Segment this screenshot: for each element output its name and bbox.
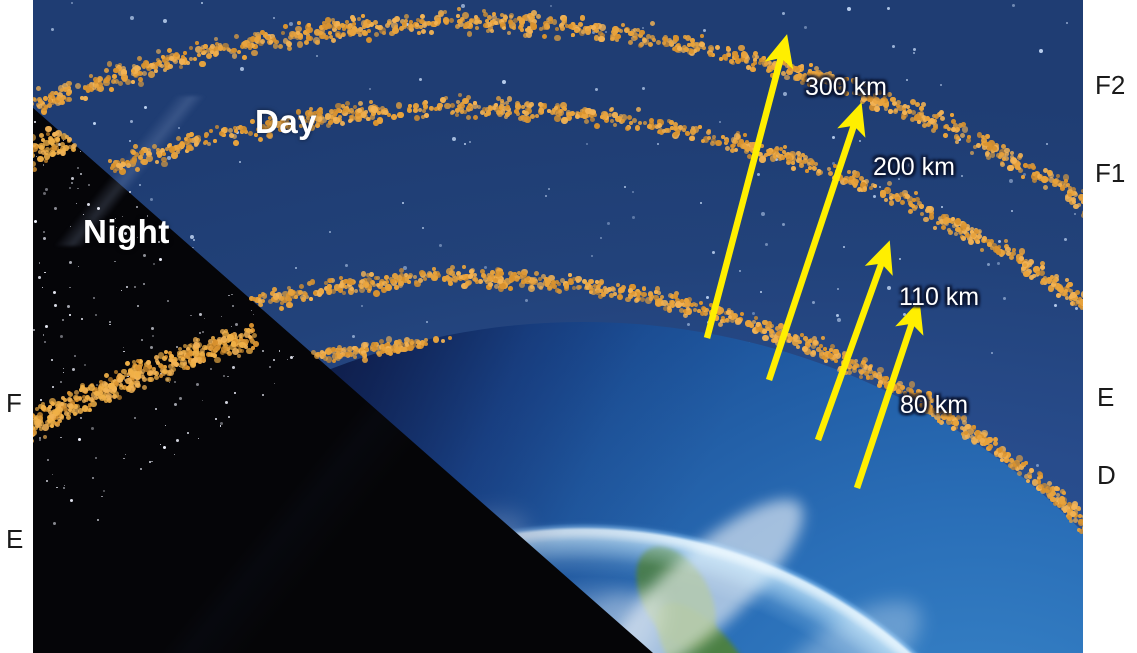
ionosphere-figure: Day Night 300 km 200 km 110 km 80 km xyxy=(33,0,1083,653)
diagram-page: Day Night 300 km 200 km 110 km 80 km F2 … xyxy=(0,0,1137,653)
